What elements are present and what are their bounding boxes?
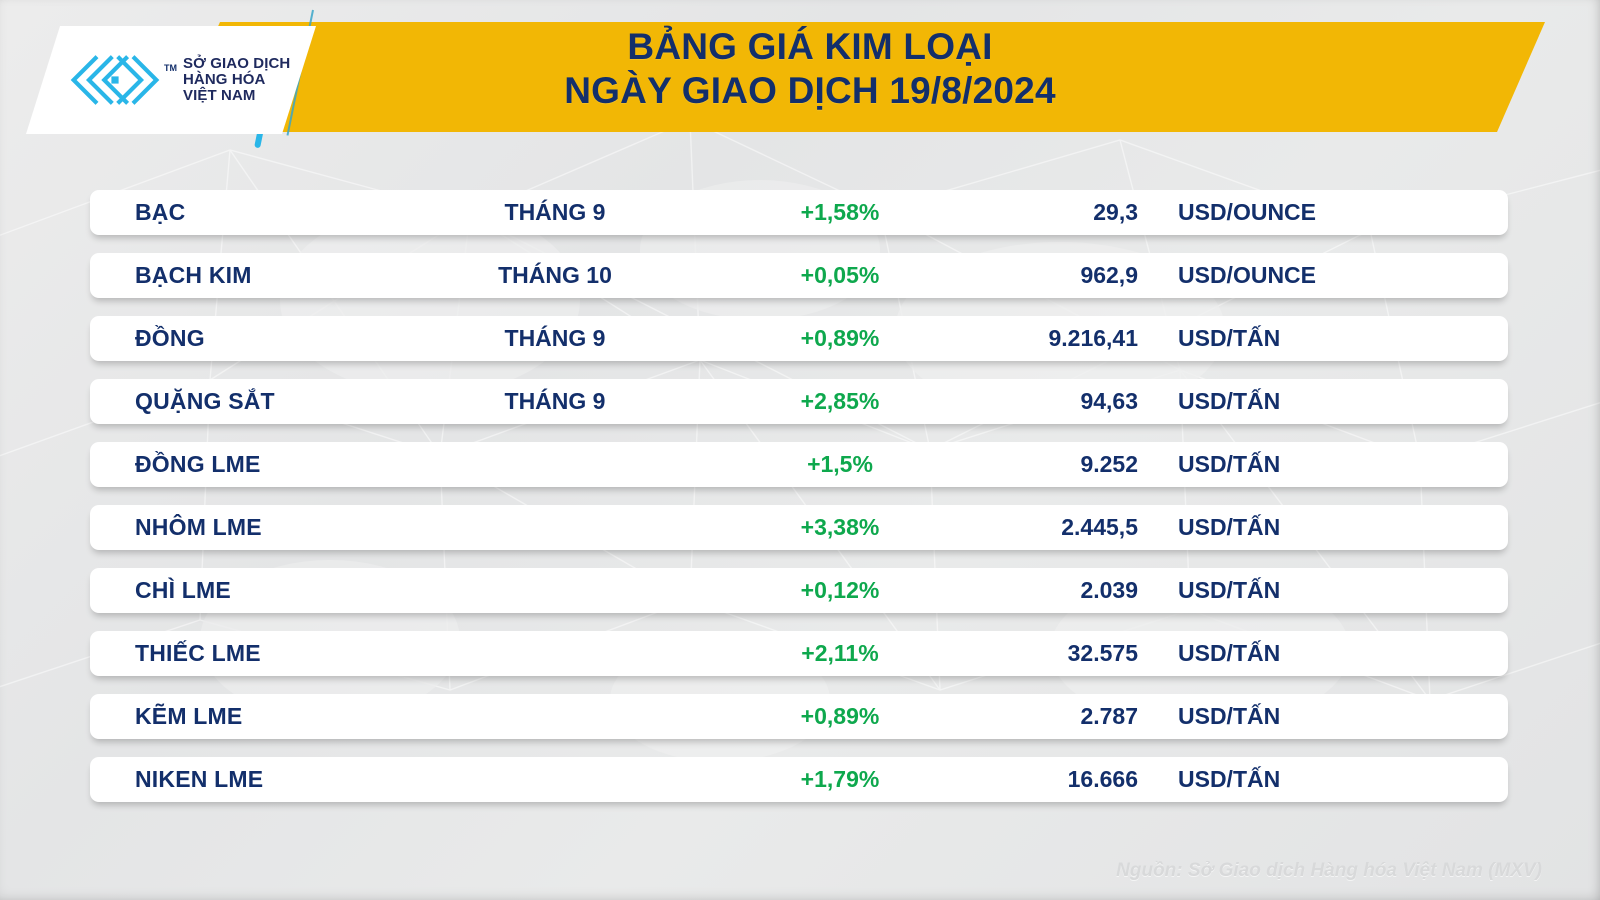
trademark-symbol: TM: [164, 63, 177, 73]
table-row[interactable]: ĐỒNGTHÁNG 9+0,89%9.216,41USD/TẤN: [90, 316, 1508, 361]
metal-name: THIẾC LME: [135, 640, 261, 667]
metal-name: KẼM LME: [135, 703, 242, 730]
contract-month: THÁNG 9: [440, 388, 670, 415]
logo-card: TM SỞ GIAO DỊCH HÀNG HÓA VIỆT NAM: [26, 26, 316, 134]
price-unit: USD/TẤN: [1178, 388, 1280, 415]
price-value: 962,9: [890, 262, 1138, 289]
price-unit: USD/TẤN: [1178, 325, 1280, 352]
table-row[interactable]: BẠCH KIMTHÁNG 10+0,05%962,9USD/OUNCE: [90, 253, 1508, 298]
price-value: 2.445,5: [890, 514, 1138, 541]
table-row[interactable]: BẠCTHÁNG 9+1,58%29,3USD/OUNCE: [90, 190, 1508, 235]
metal-name: CHÌ LME: [135, 577, 231, 604]
metal-name: BẠC: [135, 199, 185, 226]
metal-name: ĐỒNG: [135, 325, 205, 352]
price-value: 29,3: [890, 199, 1138, 226]
price-value: 32.575: [890, 640, 1138, 667]
price-unit: USD/TẤN: [1178, 514, 1280, 541]
contract-month: THÁNG 9: [440, 325, 670, 352]
mxv-logo-icon: [70, 51, 160, 109]
metal-name: QUẶNG SẮT: [135, 388, 275, 415]
contract-month: THÁNG 9: [440, 199, 670, 226]
source-attribution: Nguồn: Sở Giao dịch Hàng hóa Việt Nam (M…: [1116, 860, 1542, 882]
table-row[interactable]: ĐỒNG LME+1,5%9.252USD/TẤN: [90, 442, 1508, 487]
price-unit: USD/TẤN: [1178, 703, 1280, 730]
metal-name: NIKEN LME: [135, 766, 263, 793]
logo-wordmark: SỞ GIAO DỊCH HÀNG HÓA VIỆT NAM: [183, 56, 290, 104]
price-value: 9.252: [890, 451, 1138, 478]
metal-name: BẠCH KIM: [135, 262, 252, 289]
price-value: 94,63: [890, 388, 1138, 415]
infographic-page: BẢNG GIÁ KIM LOẠI NGÀY GIAO DỊCH 19/8/20…: [0, 0, 1600, 900]
table-row[interactable]: NIKEN LME+1,79%16.666USD/TẤN: [90, 757, 1508, 802]
table-row[interactable]: KẼM LME+0,89%2.787USD/TẤN: [90, 694, 1508, 739]
price-value: 16.666: [890, 766, 1138, 793]
table-row[interactable]: CHÌ LME+0,12%2.039USD/TẤN: [90, 568, 1508, 613]
metal-name: NHÔM LME: [135, 514, 262, 541]
price-unit: USD/TẤN: [1178, 640, 1280, 667]
price-unit: USD/TẤN: [1178, 577, 1280, 604]
price-unit: USD/TẤN: [1178, 451, 1280, 478]
table-row[interactable]: NHÔM LME+3,38%2.445,5USD/TẤN: [90, 505, 1508, 550]
metal-name: ĐỒNG LME: [135, 451, 261, 478]
metal-price-table: BẠCTHÁNG 9+1,58%29,3USD/OUNCEBẠCH KIMTHÁ…: [0, 190, 1600, 820]
contract-month: THÁNG 10: [440, 262, 670, 289]
price-unit: USD/OUNCE: [1178, 199, 1316, 226]
price-value: 2.039: [890, 577, 1138, 604]
price-unit: USD/TẤN: [1178, 766, 1280, 793]
price-value: 2.787: [890, 703, 1138, 730]
price-value: 9.216,41: [890, 325, 1138, 352]
page-header: BẢNG GIÁ KIM LOẠI NGÀY GIAO DỊCH 19/8/20…: [0, 0, 1600, 140]
table-row[interactable]: THIẾC LME+2,11%32.575USD/TẤN: [90, 631, 1508, 676]
table-row[interactable]: QUẶNG SẮTTHÁNG 9+2,85%94,63USD/TẤN: [90, 379, 1508, 424]
price-unit: USD/OUNCE: [1178, 262, 1316, 289]
page-title: BẢNG GIÁ KIM LOẠI NGÀY GIAO DỊCH 19/8/20…: [310, 25, 1310, 113]
